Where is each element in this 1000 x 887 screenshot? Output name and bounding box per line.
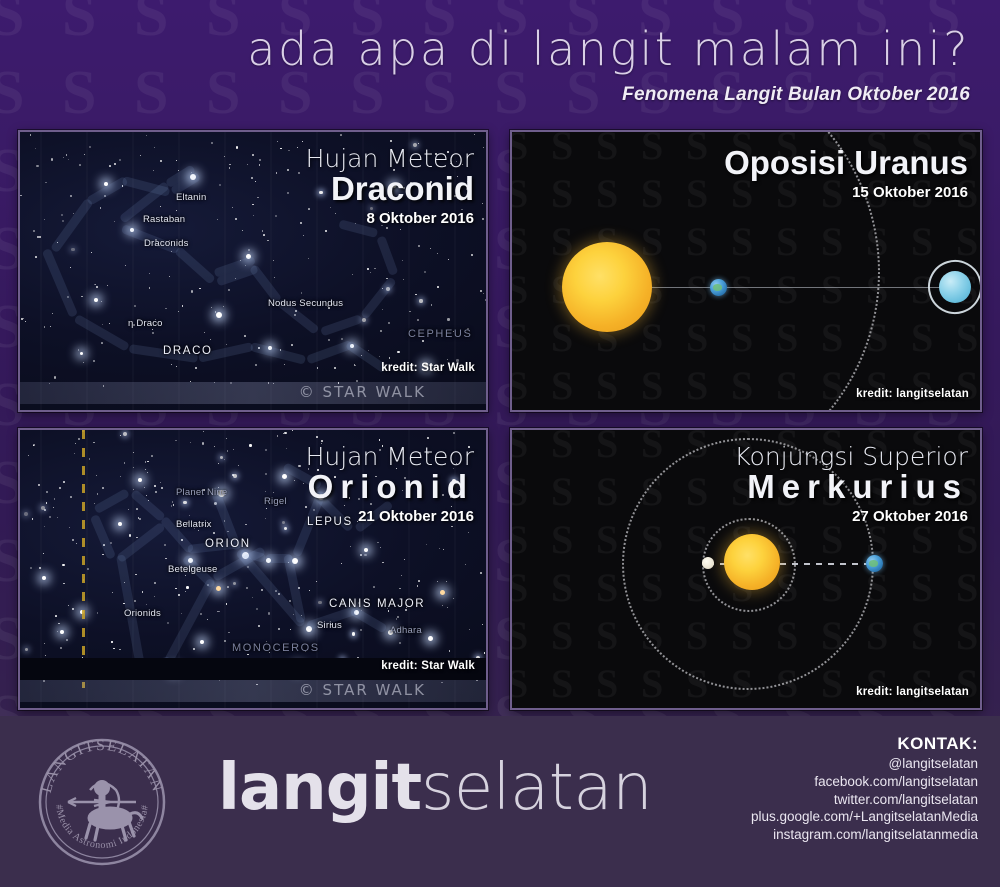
contact-instagram[interactable]: instagram.com/langitselatanmedia (751, 826, 978, 844)
panel-merkurius[interactable]: SSSSSSSSSSSSSSSSSSSSSSSSSSSSSSSSSSSSSSSS… (510, 428, 982, 710)
panel-credit: kredit: langitselatan (856, 686, 969, 698)
poster-header: ada apa di langit malam ini? Fenomena La… (0, 0, 1000, 118)
sky-label: Bellatrix (176, 519, 212, 530)
sky-label: CEPHEUS (408, 328, 472, 340)
langitselatan-wordmark[interactable]: langitselatan (218, 756, 652, 820)
orbital-diagram-uranus: SSSSSSSSSSSSSSSSSSSSSSSSSSSSSSSSSSSSSSSS… (512, 132, 980, 410)
mercury-body (702, 557, 714, 569)
contact-instagram-handle[interactable]: @langitselatan (751, 755, 978, 773)
starwalk-watermark-bar: © STAR WALK (20, 680, 486, 702)
sky-label: Eltanin (176, 192, 206, 203)
uranus-body (939, 271, 971, 303)
sagittarius-archer-figure (68, 781, 142, 841)
sky-label: MONOCEROS (232, 642, 320, 654)
sky-label: Planet Nine (176, 487, 227, 498)
panel-credit: kredit: Star Walk (381, 362, 475, 374)
panel-date: 8 Oktober 2016 (306, 210, 474, 227)
poster-canvas: SSSSSSSSSSSSSSSSSSSSSSSSSSSSSSSSSSSSSSSS… (0, 0, 1000, 887)
heading-line-2: Orionid (306, 470, 474, 505)
sky-label: Sirius (317, 620, 342, 631)
sky-label: Rigel (264, 496, 287, 507)
wordmark-bold: langit (218, 751, 421, 825)
panel-date: 15 Oktober 2016 (724, 184, 968, 201)
wordmark-light: selatan (421, 751, 652, 825)
sky-label: η Draco (128, 318, 163, 329)
contact-twitter[interactable]: twitter.com/langitselatan (751, 791, 978, 809)
starwalk-watermark-text: © STAR WALK (299, 681, 426, 699)
panel-credit: kredit: langitselatan (856, 388, 969, 400)
poster-footer: LANGITSELATAN #Media Astronomi Indonesia… (0, 716, 1000, 887)
contact-googleplus[interactable]: plus.google.com/+LangitselatanMedia (751, 808, 978, 826)
sky-label: Nodus Secundus (268, 298, 343, 309)
heading-line-1: Konjungsi Superior (734, 444, 968, 470)
heading-line-2: Merkurius (734, 470, 968, 505)
contact-facebook[interactable]: facebook.com/langitselatan (751, 773, 978, 791)
earth-body (866, 555, 883, 572)
sun-body (562, 242, 652, 332)
star-chart-orionid: Planet NineRigelBellatrixLEPUSORIONBetel… (20, 430, 486, 708)
panel-orionid[interactable]: Planet NineRigelBellatrixLEPUSORIONBetel… (18, 428, 488, 710)
panel-heading-draconid: Hujan Meteor Draconid 8 Oktober 2016 (306, 146, 474, 227)
langitselatan-seal-logo[interactable]: LANGITSELATAN #Media Astronomi Indonesia… (32, 732, 172, 872)
heading-line-1: Hujan Meteor (306, 444, 474, 470)
heading-line-2: Draconid (306, 172, 474, 207)
sun-body (724, 534, 780, 590)
panel-credit: kredit: Star Walk (381, 660, 475, 672)
panel-heading-uranus: Oposisi Uranus 15 Oktober 2016 (724, 146, 968, 201)
sky-label: Orionids (124, 608, 161, 619)
earth-body (710, 279, 727, 296)
sky-label: DRACO (163, 345, 213, 357)
panel-date: 21 Oktober 2016 (306, 508, 474, 525)
heading-line-1: Hujan Meteor (306, 146, 474, 172)
ecliptic-line (82, 430, 85, 688)
starwalk-watermark-bar: © STAR WALK (20, 382, 486, 404)
sky-label: Rastaban (143, 214, 185, 225)
panel-heading-merkurius: Konjungsi Superior Merkurius 27 Oktober … (734, 444, 968, 525)
sky-label: CANIS MAJOR (329, 598, 425, 610)
contact-heading: KONTAK: (751, 734, 978, 754)
panel-date: 27 Oktober 2016 (734, 508, 968, 525)
page-subtitle: Fenomena Langit Bulan Oktober 2016 (622, 84, 970, 106)
orbital-diagram-merkurius: SSSSSSSSSSSSSSSSSSSSSSSSSSSSSSSSSSSSSSSS… (512, 430, 980, 708)
starwalk-watermark-text: © STAR WALK (299, 383, 426, 401)
heading-line-2: Oposisi Uranus (724, 146, 968, 181)
star-chart-draconid: EltaninRastabanDraconidsNodus Secundusη … (20, 132, 486, 410)
sky-label: ORION (205, 538, 251, 550)
panel-uranus[interactable]: SSSSSSSSSSSSSSSSSSSSSSSSSSSSSSSSSSSSSSSS… (510, 130, 982, 412)
page-title: ada apa di langit malam ini? (247, 22, 970, 76)
sky-label: Betelgeuse (168, 564, 218, 575)
panel-heading-orionid: Hujan Meteor Orionid 21 Oktober 2016 (306, 444, 474, 525)
panel-draconid[interactable]: EltaninRastabanDraconidsNodus Secundusη … (18, 130, 488, 412)
contact-block: KONTAK: @langitselatan facebook.com/lang… (751, 734, 978, 844)
sky-label: Draconids (144, 238, 189, 249)
sky-label: Adhara (390, 625, 422, 636)
opposition-alignment-line (612, 287, 952, 288)
